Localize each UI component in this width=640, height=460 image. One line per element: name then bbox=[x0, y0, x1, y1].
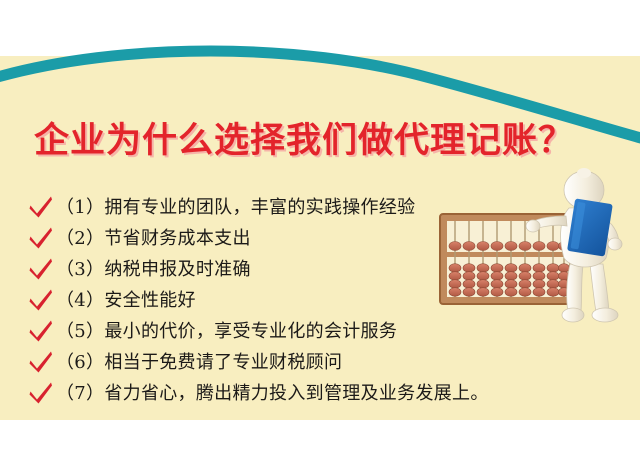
list-item-number: （5） bbox=[56, 323, 104, 341]
check-icon bbox=[28, 350, 54, 374]
list-item-number: （4） bbox=[56, 292, 104, 310]
list-item: （6） 相当于免费请了专业财税顾问 bbox=[28, 347, 548, 378]
abacus-icon bbox=[440, 214, 576, 304]
check-icon bbox=[28, 381, 54, 405]
list-item-label: 相当于免费请了专业财税顾问 bbox=[104, 354, 342, 372]
list-item-label: 最小的代价，享受专业化的会计服务 bbox=[104, 323, 397, 341]
list-item-label: 纳税申报及时准确 bbox=[104, 261, 250, 279]
list-item-number: （6） bbox=[56, 354, 104, 372]
list-item-number: （1） bbox=[56, 199, 104, 217]
list-item: （7） 省力省心，腾出精力投入到管理及业务发展上。 bbox=[28, 378, 548, 409]
list-item-number: （2） bbox=[56, 230, 104, 248]
promo-poster: 企业为什么选择我们做代理记账？ （1） 拥有专业的团队，丰富的实践操作经验 （2… bbox=[0, 0, 640, 460]
list-item-number: （7） bbox=[56, 385, 104, 403]
check-icon bbox=[28, 257, 54, 281]
list-item-label: 安全性能好 bbox=[104, 292, 196, 310]
check-icon bbox=[28, 195, 54, 219]
page-title: 企业为什么选择我们做代理记账？ bbox=[34, 124, 574, 159]
list-item-number: （3） bbox=[56, 261, 104, 279]
list-item-label: 拥有专业的团队，丰富的实践操作经验 bbox=[104, 199, 415, 217]
check-icon bbox=[28, 319, 54, 343]
bottom-white-band bbox=[0, 420, 640, 460]
check-icon bbox=[28, 288, 54, 312]
list-item-label: 节省财务成本支出 bbox=[104, 230, 250, 248]
abacus-and-figure-illustration bbox=[438, 160, 640, 340]
check-icon bbox=[28, 226, 54, 250]
list-item-label: 省力省心，腾出精力投入到管理及业务发展上。 bbox=[104, 385, 488, 403]
